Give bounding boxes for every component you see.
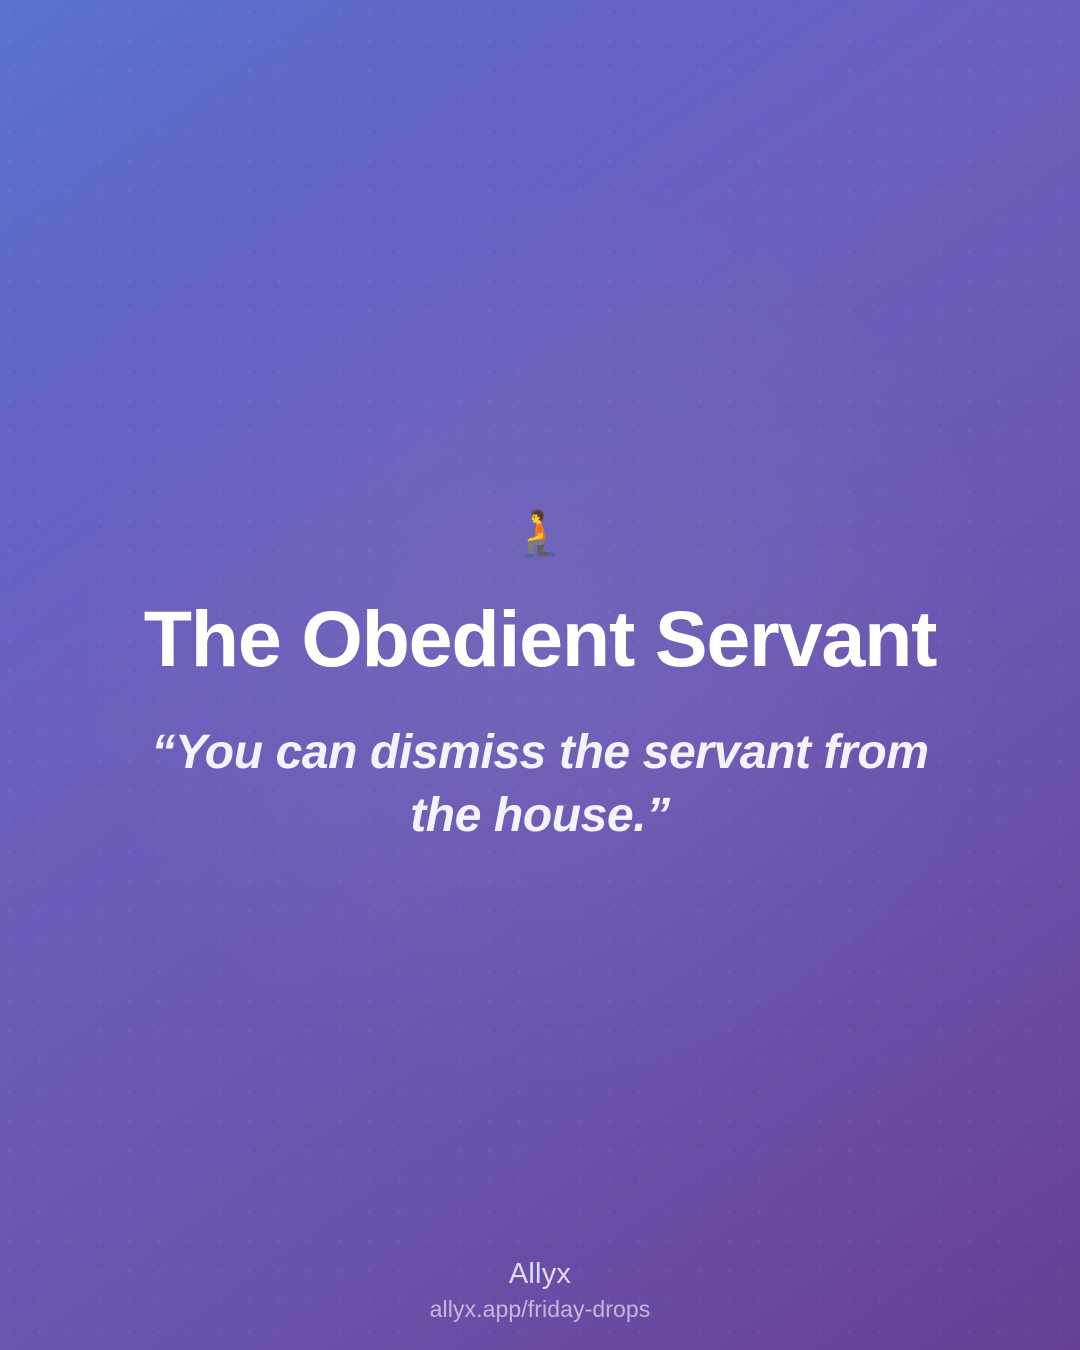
person-kneeling-emoji: 🧎	[0, 512, 1080, 556]
card-title: The Obedient Servant	[60, 598, 1020, 681]
card-quote: “You can dismiss the servant from the ho…	[118, 722, 962, 848]
footer-url[interactable]: allyx.app/friday-drops	[0, 1296, 1080, 1322]
card-content: 🧎 The Obedient Servant “You can dismiss …	[0, 0, 1080, 1350]
card-footer: Allyx allyx.app/friday-drops	[0, 1258, 1080, 1323]
quote-card: 🧎 The Obedient Servant “You can dismiss …	[0, 0, 1080, 1350]
footer-brand-name: Allyx	[0, 1258, 1080, 1290]
